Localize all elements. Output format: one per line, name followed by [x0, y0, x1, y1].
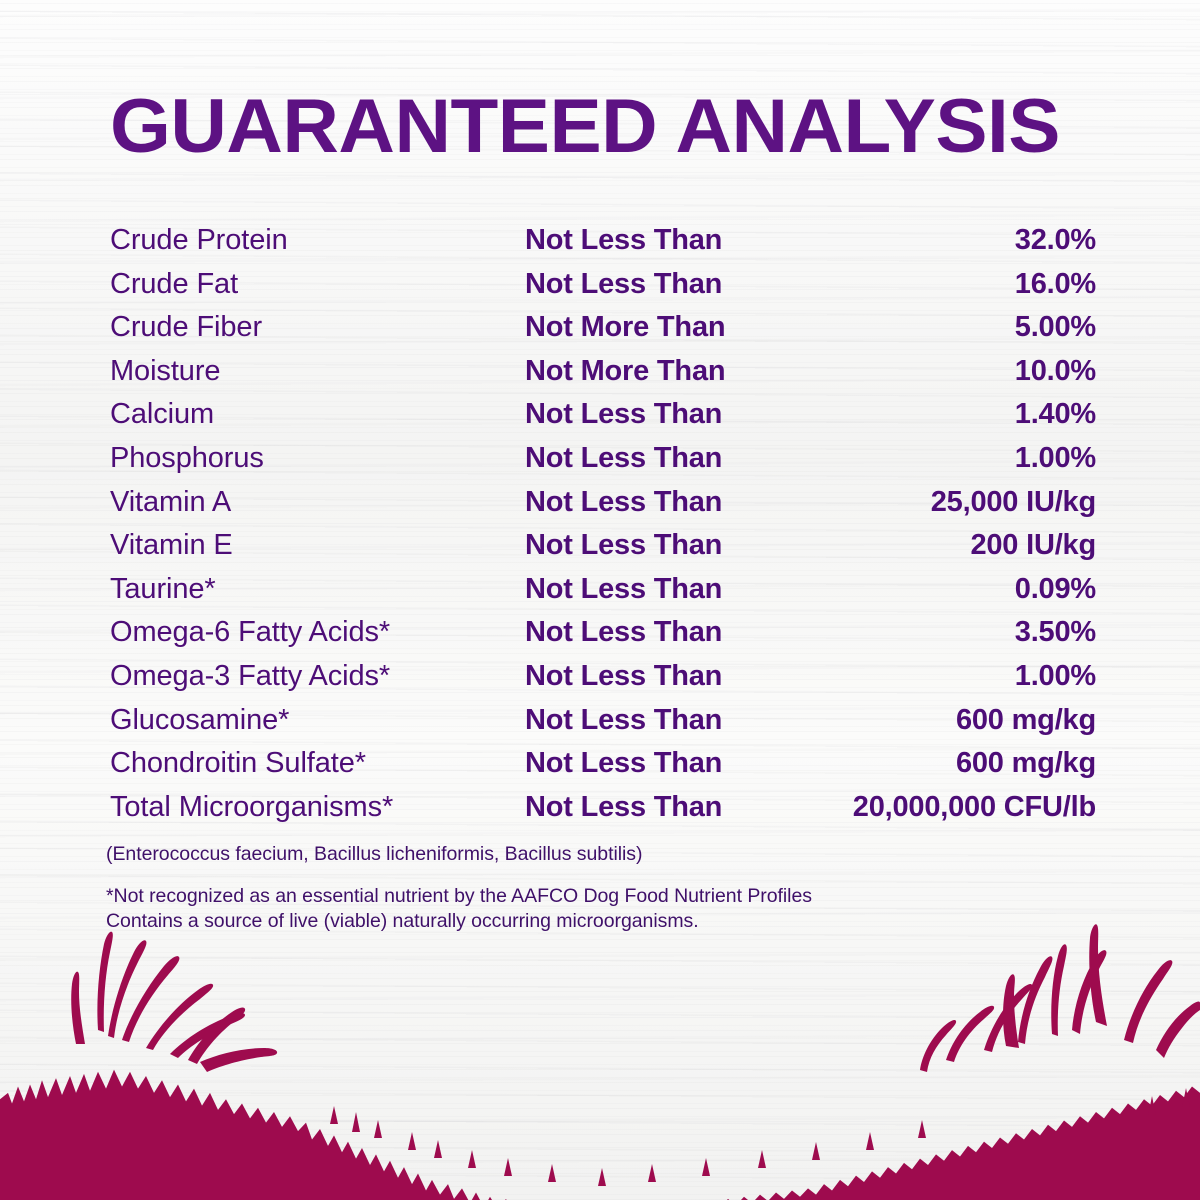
table-row: Total Microorganisms*Not Less Than20,000…: [110, 791, 1098, 835]
nutrient-qualifier: Not Less Than: [525, 398, 825, 431]
nutrient-qualifier: Not Less Than: [525, 704, 825, 737]
nutrient-value: 600 mg/kg: [825, 747, 1098, 780]
nutrient-qualifier: Not Less Than: [525, 486, 825, 519]
table-row: Crude ProteinNot Less Than32.0%: [110, 224, 1098, 268]
table-row: Taurine*Not Less Than0.09%: [110, 573, 1098, 617]
nutrient-value: 200 IU/kg: [825, 529, 1098, 562]
nutrient-value: 20,000,000 CFU/lb: [825, 791, 1098, 824]
nutrient-qualifier: Not Less Than: [525, 573, 825, 606]
nutrient-qualifier: Not Less Than: [525, 442, 825, 475]
nutrient-name: Crude Protein: [110, 224, 525, 257]
nutrient-qualifier: Not Less Than: [525, 529, 825, 562]
nutrient-qualifier: Not Less Than: [525, 268, 825, 301]
nutrient-qualifier: Not Less Than: [525, 747, 825, 780]
nutrient-qualifier: Not More Than: [525, 355, 825, 388]
table-row: Crude FatNot Less Than16.0%: [110, 268, 1098, 312]
nutrient-value: 1.40%: [825, 398, 1098, 431]
nutrient-qualifier: Not Less Than: [525, 791, 825, 824]
table-row: Chondroitin Sulfate*Not Less Than600 mg/…: [110, 747, 1098, 791]
nutrient-qualifier: Not Less Than: [525, 616, 825, 649]
nutrient-name: Crude Fiber: [110, 311, 525, 344]
nutrient-value: 600 mg/kg: [825, 704, 1098, 737]
nutrient-value: 32.0%: [825, 224, 1098, 257]
nutrient-name: Omega-6 Fatty Acids*: [110, 616, 525, 649]
nutrient-name: Vitamin A: [110, 486, 525, 519]
nutrient-name: Calcium: [110, 398, 525, 431]
footnote-organisms: (Enterococcus faecium, Bacillus lichenif…: [106, 840, 1106, 868]
grass-silhouette: [0, 910, 1200, 1200]
page-title: GUARANTEED ANALYSIS: [110, 88, 1060, 166]
footnote-asterisk-line-1: *Not recognized as an essential nutrient…: [106, 884, 1106, 909]
table-row: PhosphorusNot Less Than1.00%: [110, 442, 1098, 486]
nutrient-value: 3.50%: [825, 616, 1098, 649]
nutrient-value: 16.0%: [825, 268, 1098, 301]
nutrient-name: Vitamin E: [110, 529, 525, 562]
nutrient-qualifier: Not Less Than: [525, 660, 825, 693]
table-row: Crude FiberNot More Than5.00%: [110, 311, 1098, 355]
guaranteed-analysis-panel: GUARANTEED ANALYSIS Crude ProteinNot Les…: [0, 0, 1200, 1200]
nutrient-name: Moisture: [110, 355, 525, 388]
guaranteed-analysis-table: Crude ProteinNot Less Than32.0%Crude Fat…: [110, 224, 1098, 834]
nutrient-qualifier: Not More Than: [525, 311, 825, 344]
nutrient-value: 1.00%: [825, 660, 1098, 693]
nutrient-name: Taurine*: [110, 573, 525, 606]
nutrient-value: 25,000 IU/kg: [825, 486, 1098, 519]
nutrient-value: 5.00%: [825, 311, 1098, 344]
table-row: Glucosamine*Not Less Than600 mg/kg: [110, 704, 1098, 748]
nutrient-name: Omega-3 Fatty Acids*: [110, 660, 525, 693]
table-row: Vitamin ENot Less Than200 IU/kg: [110, 529, 1098, 573]
table-row: CalciumNot Less Than1.40%: [110, 398, 1098, 442]
nutrient-name: Phosphorus: [110, 442, 525, 475]
table-row: Omega-3 Fatty Acids*Not Less Than1.00%: [110, 660, 1098, 704]
nutrient-name: Glucosamine*: [110, 704, 525, 737]
nutrient-name: Total Microorganisms*: [110, 791, 525, 824]
table-row: Omega-6 Fatty Acids*Not Less Than3.50%: [110, 616, 1098, 660]
nutrient-value: 10.0%: [825, 355, 1098, 388]
nutrient-name: Chondroitin Sulfate*: [110, 747, 525, 780]
table-row: Vitamin ANot Less Than25,000 IU/kg: [110, 486, 1098, 530]
nutrient-value: 1.00%: [825, 442, 1098, 475]
table-row: MoistureNot More Than10.0%: [110, 355, 1098, 399]
nutrient-name: Crude Fat: [110, 268, 525, 301]
nutrient-value: 0.09%: [825, 573, 1098, 606]
nutrient-qualifier: Not Less Than: [525, 224, 825, 257]
